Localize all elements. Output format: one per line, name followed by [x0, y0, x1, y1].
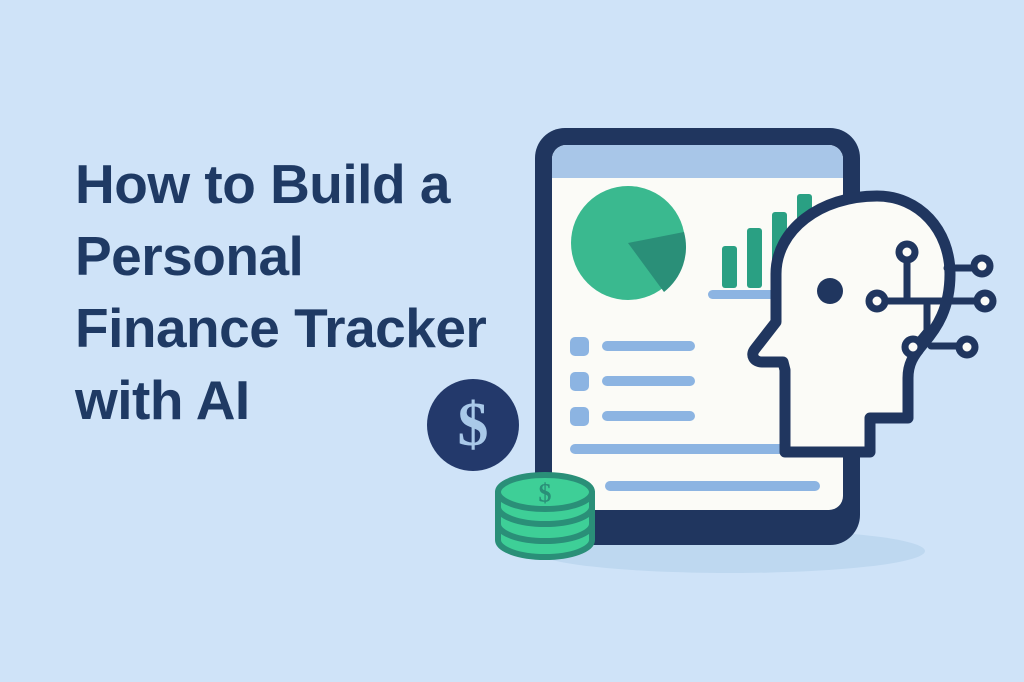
ai-node-3: [905, 339, 921, 355]
dollar-badge-symbol: $: [458, 391, 489, 459]
ai-node-4: [974, 258, 990, 274]
bar-chart-bar-2: [747, 228, 762, 288]
checklist-box-3: [570, 407, 589, 426]
poster-canvas: How to Build a Personal Finance Tracker …: [0, 0, 1024, 682]
checklist-line-1: [602, 341, 695, 351]
checklist-box-1: [570, 337, 589, 356]
ai-head: [753, 196, 993, 452]
checklist-line-3: [602, 411, 695, 421]
checklist-box-2: [570, 372, 589, 391]
ai-node-6: [959, 339, 975, 355]
dollar-badge: $: [427, 379, 519, 471]
checklist-rows: [570, 337, 695, 426]
tablet-header-strip: [552, 145, 843, 178]
bar-chart-bar-1: [722, 246, 737, 288]
ai-node-2: [899, 244, 915, 260]
document-text-line-2: [605, 481, 820, 491]
hero-illustration: $ $: [0, 0, 1024, 682]
ai-node-5: [977, 293, 993, 309]
checklist-line-2: [602, 376, 695, 386]
coin-stack: $: [498, 475, 592, 557]
ai-head-eye: [817, 278, 843, 304]
coin-stack-symbol: $: [539, 479, 552, 508]
ai-node-1: [869, 293, 885, 309]
